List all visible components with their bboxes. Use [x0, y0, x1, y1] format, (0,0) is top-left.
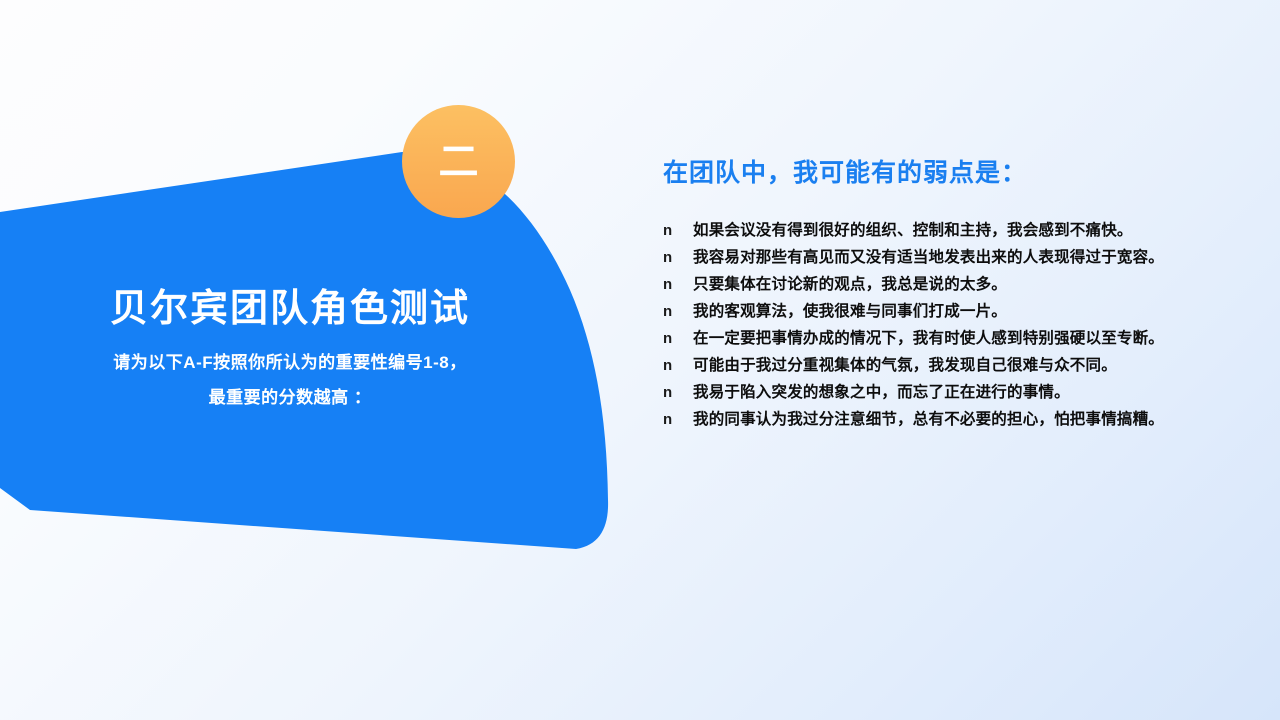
- banner-text-block: 贝尔宾团队角色测试 请为以下A-F按照你所认为的重要性编号1-8， 最重要的分数…: [0, 288, 580, 406]
- slide-number-label: 二: [439, 142, 479, 182]
- bullet-marker-icon: n: [663, 220, 693, 242]
- list-item-label: 如果会议没有得到很好的组织、控制和主持，我会感到不痛快。: [693, 220, 1248, 243]
- content-heading: 在团队中，我可能有的弱点是：: [663, 158, 1248, 188]
- slide-number-badge: 二: [402, 105, 515, 218]
- bullet-marker-icon: n: [663, 247, 693, 269]
- list-item-label: 可能由于我过分重视集体的气氛，我发现自己很难与众不同。: [693, 355, 1248, 378]
- list-item: n 可能由于我过分重视集体的气氛，我发现自己很难与众不同。: [663, 355, 1248, 378]
- list-item-label: 我易于陷入突发的想象之中，而忘了正在进行的事情。: [693, 382, 1248, 405]
- list-item: n 在一定要把事情办成的情况下，我有时使人感到特别强硬以至专断。: [663, 328, 1248, 351]
- list-item-label: 我的同事认为我过分注意细节，总有不必要的担心，怕把事情搞糟。: [693, 409, 1248, 432]
- list-item: n 我的同事认为我过分注意细节，总有不必要的担心，怕把事情搞糟。: [663, 409, 1248, 432]
- list-item-label: 我的客观算法，使我很难与同事们打成一片。: [693, 301, 1248, 324]
- list-item-label: 在一定要把事情办成的情况下，我有时使人感到特别强硬以至专断。: [693, 328, 1248, 351]
- bullet-marker-icon: n: [663, 328, 693, 350]
- list-item: n 我容易对那些有高见而又没有适当地发表出来的人表现得过于宽容。: [663, 247, 1248, 270]
- bullet-marker-icon: n: [663, 409, 693, 431]
- weakness-bullet-list: n 如果会议没有得到很好的组织、控制和主持，我会感到不痛快。 n 我容易对那些有…: [663, 220, 1248, 432]
- slide-root: 二 贝尔宾团队角色测试 请为以下A-F按照你所认为的重要性编号1-8， 最重要的…: [0, 0, 1280, 720]
- banner-subtitle: 请为以下A-F按照你所认为的重要性编号1-8， 最重要的分数越高 ：: [0, 354, 580, 406]
- list-item: n 我的客观算法，使我很难与同事们打成一片。: [663, 301, 1248, 324]
- bullet-marker-icon: n: [663, 301, 693, 323]
- banner-title: 贝尔宾团队角色测试: [0, 288, 580, 332]
- list-item: n 只要集体在讨论新的观点，我总是说的太多。: [663, 274, 1248, 297]
- bullet-marker-icon: n: [663, 355, 693, 377]
- bullet-marker-icon: n: [663, 274, 693, 296]
- list-item-label: 只要集体在讨论新的观点，我总是说的太多。: [693, 274, 1248, 297]
- list-item: n 如果会议没有得到很好的组织、控制和主持，我会感到不痛快。: [663, 220, 1248, 243]
- list-item-label: 我容易对那些有高见而又没有适当地发表出来的人表现得过于宽容。: [693, 247, 1248, 270]
- list-item: n 我易于陷入突发的想象之中，而忘了正在进行的事情。: [663, 382, 1248, 405]
- content-column: 在团队中，我可能有的弱点是： n 如果会议没有得到很好的组织、控制和主持，我会感…: [663, 158, 1248, 436]
- banner-subtitle-line-1: 请为以下A-F按照你所认为的重要性编号1-8，: [0, 354, 580, 371]
- banner-subtitle-line-2: 最重要的分数越高 ：: [0, 389, 580, 406]
- bullet-marker-icon: n: [663, 382, 693, 404]
